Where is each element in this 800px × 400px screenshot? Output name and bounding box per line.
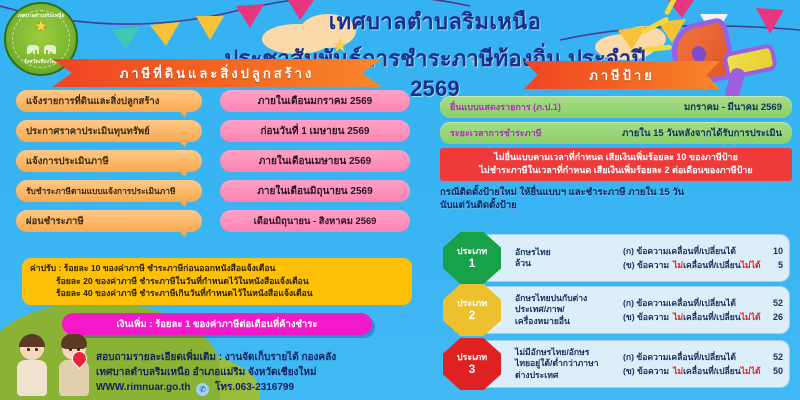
type-desc-line: อักษรไทยปนกับต่าง: [515, 293, 623, 305]
rate-value: 52: [773, 296, 789, 310]
new-sign-note-line-2: นับแต่วันติดตั้งป้าย: [440, 199, 792, 212]
sign-type-row-2: ประเภท 2 อักษรไทยปนกับต่าง ประเทศ/ภาพ/ เ…: [470, 286, 790, 334]
type-badge-2: ประเภท 2: [443, 284, 501, 336]
rate-negation: ไม่: [673, 366, 683, 376]
rate-value: 52: [773, 350, 789, 364]
sign-type-row-3: ประเภท 3 ไม่มีอักษรไทย/อักษร ไทยอยู่ใต้/…: [470, 340, 790, 388]
rate-key: (ก) ข้อความ: [623, 350, 668, 364]
sign-tax-section: ยื่นแบบแสดงรายการ (ภ.ป.1) มกราคม - มีนาค…: [440, 96, 792, 212]
schedule-label: แจ้งรายการที่ดินและสิ่งปลูกสร้าง: [16, 90, 202, 112]
schedule-label: ประกาศราคาประเมินทุนทรัพย์: [16, 120, 202, 142]
type-badge-1: ประเภท 1: [443, 232, 501, 284]
rate-key: (ก) ข้อความ: [623, 296, 668, 310]
type-rate-row: (ข) ข้อความ ไม่เคลื่อนที่/เปลี่ยนไม่ได้ …: [623, 364, 789, 378]
sign-tax-value: มกราคม - มีนาคม 2569: [684, 100, 782, 115]
schedule-row: รับชำระภาษีตามแบบแจ้งการประเมินภาษี ภายใ…: [8, 180, 420, 207]
type-description-2: อักษรไทยปนกับต่าง ประเทศ/ภาพ/ เครื่องหมา…: [515, 293, 623, 328]
rate-condition: เคลื่อนที่/เปลี่ยน: [683, 260, 741, 270]
type-description-1: อักษรไทย ล้วน: [515, 247, 623, 270]
section-ribbon-land-tax-label: ภาษีที่ดินและสิ่งปลูกสร้าง: [120, 63, 315, 84]
type-rate-row: (ข) ข้อความ ไม่เคลื่อนที่/เปลี่ยนไม่ได้ …: [623, 310, 789, 324]
type-rates-1: (ก) ข้อความ เคลื่อนที่/เปลี่ยนได้ 10 (ข)…: [623, 244, 789, 272]
rate-negation: ไม่ได้: [741, 312, 761, 322]
land-tax-schedule: แจ้งรายการที่ดินและสิ่งปลูกสร้าง ภายในเด…: [8, 90, 420, 240]
rate-value: 26: [773, 310, 789, 324]
rate-key: (ข) ข้อความ: [623, 310, 669, 324]
website-link[interactable]: WWW.rimnuar.go.th: [96, 382, 190, 393]
schedule-row: แจ้งการประเมินภาษี ภายในเดือนเมษายน 2569: [8, 150, 420, 177]
penalty-notice-box: ค่าปรับ : ร้อยละ 10 ของค่าภาษี ชำระภาษีก…: [22, 258, 412, 305]
type-desc-line: ไม่มีอักษรไทย/อักษร: [515, 347, 623, 359]
rate-condition: เคลื่อนที่/เปลี่ยนได้: [668, 244, 736, 258]
sign-tax-value: ภายใน 15 วันหลังจากได้รับการประเมิน: [622, 126, 782, 141]
schedule-value: ก่อนวันที่ 1 เมษายน 2569: [220, 120, 410, 142]
type-desc-line: ต่างประเทศ: [515, 370, 623, 382]
type-badge-number: 2: [469, 309, 476, 322]
sign-tax-penalty-box: ไม่ยื่นแบบตามเวลาที่กำหนด เสียเงินเพิ่มร…: [440, 148, 792, 181]
type-rates-3: (ก) ข้อความ เคลื่อนที่/เปลี่ยนได้ 52 (ข)…: [623, 350, 789, 378]
contact-footer: สอบถามรายละเอียดเพิ่มเติม : งานจัดเก็บรา…: [96, 350, 516, 396]
type-rate-row: (ก) ข้อความ เคลื่อนที่/เปลี่ยนได้ 52: [623, 350, 789, 364]
rate-condition: เคลื่อนที่/เปลี่ยนได้: [668, 296, 736, 310]
sign-penalty-line-2: ไม่ชำระภาษีในเวลาที่กำหนด เสียเงินเพิ่มร…: [446, 164, 786, 177]
new-sign-note-line-1: กรณีติดตั้งป้ายใหม่ ให้ยื่นแบบฯ และชำระภ…: [440, 186, 792, 199]
schedule-row: ประกาศราคาประเมินทุนทรัพย์ ก่อนวันที่ 1 …: [8, 120, 420, 147]
type-rates-2: (ก) ข้อความ เคลื่อนที่/เปลี่ยนได้ 52 (ข)…: [623, 296, 789, 324]
rate-negation: ไม่: [673, 312, 683, 322]
section-ribbon-land-tax: ภาษีที่ดินและสิ่งปลูกสร้าง: [52, 59, 382, 87]
type-desc-line: ล้วน: [515, 258, 623, 270]
type-description-3: ไม่มีอักษรไทย/อักษร ไทยอยู่ใต้/ต่ำกว่าภา…: [515, 347, 623, 382]
rate-negation: ไม่ได้: [741, 260, 761, 270]
sign-tax-label: ระยะเวลาการชำระภาษี: [450, 126, 542, 140]
type-desc-line: ประเทศ/ภาพ/: [515, 304, 623, 316]
schedule-value: เดือนมิถุนายน - สิงหาคม 2569: [220, 210, 410, 232]
person-male: [12, 336, 52, 396]
penalty-line-1: ค่าปรับ : ร้อยละ 10 ของค่าภาษี ชำระภาษีก…: [30, 262, 404, 275]
rate-negation: ไม่ได้: [741, 366, 761, 376]
phone-icon: ✆: [196, 383, 209, 396]
contact-line-1: สอบถามรายละเอียดเพิ่มเติม : งานจัดเก็บรา…: [96, 350, 516, 365]
sign-penalty-line-1: ไม่ยื่นแบบตามเวลาที่กำหนด เสียเงินเพิ่มร…: [446, 151, 786, 164]
rate-condition: เคลื่อนที่/เปลี่ยนได้: [668, 350, 736, 364]
type-desc-line: เครื่องหมายอื่น: [515, 316, 623, 328]
sign-type-row-1: ประเภท 1 อักษรไทย ล้วน (ก) ข้อความ เคลื่…: [470, 234, 790, 282]
seal-star-icon: ★: [34, 19, 47, 34]
section-ribbon-sign-tax: ภาษีป้าย: [524, 61, 720, 89]
type-desc-line: อักษรไทย: [515, 247, 623, 259]
sign-tax-row: ระยะเวลาการชำระภาษี ภายใน 15 วันหลังจากไ…: [440, 122, 792, 144]
rate-condition: เคลื่อนที่/เปลี่ยน: [683, 366, 741, 376]
schedule-value: ภายในเดือนเมษายน 2569: [220, 150, 410, 172]
contact-line-3: WWW.rimnuar.go.th ✆ โทร.063-2316799: [96, 380, 516, 396]
section-ribbon-sign-tax-label: ภาษีป้าย: [589, 65, 655, 86]
rate-value: 50: [773, 364, 789, 378]
surcharge-text: เงินเพิ่ม : ร้อยละ 1 ของค่าภาษีต่อเดือนท…: [117, 317, 318, 332]
type-desc-line: ไทยอยู่ใต้/ต่ำกว่าภาษา: [515, 358, 623, 370]
rate-condition: เคลื่อนที่/เปลี่ยน: [683, 312, 741, 322]
phone-number[interactable]: โทร.063-2316799: [215, 382, 294, 393]
page-title: เทศบาลตำบลริมเหนือ: [200, 4, 670, 39]
new-sign-note: กรณีติดตั้งป้ายใหม่ ให้ยื่นแบบฯ และชำระภ…: [440, 186, 792, 212]
type-rate-row: (ข) ข้อความ ไม่เคลื่อนที่/เปลี่ยนไม่ได้ …: [623, 258, 789, 272]
penalty-line-3: ร้อยละ 40 ของค่าภาษี ชำระภาษีเกินวันที่ก…: [30, 287, 404, 300]
type-rate-row: (ก) ข้อความ เคลื่อนที่/เปลี่ยนได้ 52: [623, 296, 789, 310]
schedule-label: รับชำระภาษีตามแบบแจ้งการประเมินภาษี: [16, 180, 202, 202]
schedule-value: ภายในเดือนมิถุนายน 2569: [220, 180, 410, 202]
poster-canvas: ★ ★ ★ เทศบาลตำบลริมเหนือ จังหวัดเชียงใหม…: [0, 0, 800, 400]
schedule-label: ผ่อนชำระภาษี: [16, 210, 202, 232]
schedule-row: ผ่อนชำระภาษี เดือนมิถุนายน - สิงหาคม 256…: [8, 210, 420, 237]
contact-line-2: เทศบาลตำบลริมเหนือ อำเภอแม่ริม จังหวัดเช…: [96, 365, 516, 380]
sign-tax-label: ยื่นแบบแสดงรายการ (ภ.ป.1): [450, 100, 561, 114]
type-badge-number: 1: [469, 257, 476, 270]
type-rate-row: (ก) ข้อความ เคลื่อนที่/เปลี่ยนได้ 10: [623, 244, 789, 258]
rate-value: 10: [773, 244, 789, 258]
location-pin-icon: [72, 351, 88, 371]
schedule-label: แจ้งการประเมินภาษี: [16, 150, 202, 172]
rate-key: (ก) ข้อความ: [623, 244, 668, 258]
rate-negation: ไม่: [673, 260, 683, 270]
rate-value: 5: [778, 258, 789, 272]
rate-key: (ข) ข้อความ: [623, 364, 669, 378]
rate-key: (ข) ข้อความ: [623, 258, 669, 272]
penalty-line-2: ร้อยละ 20 ของค่าภาษี ชำระภาษีในวันที่กำห…: [30, 275, 404, 288]
